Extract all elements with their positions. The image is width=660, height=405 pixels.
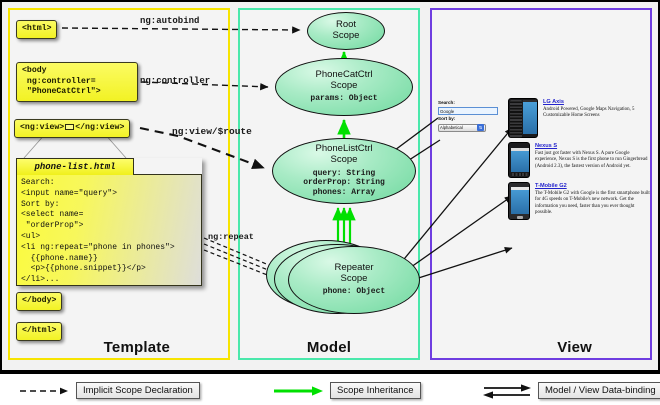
list-item[interactable]: LG Axis Android Powered, Google Maps Nav… xyxy=(508,98,650,138)
legend: Implicit Scope Declaration Scope Inherit… xyxy=(0,372,660,405)
panel-template-label: Template xyxy=(10,339,228,356)
legend-label: Implicit Scope Declaration xyxy=(76,382,200,399)
tag-html-close: </html> xyxy=(16,322,62,341)
double-arrow-icon xyxy=(482,383,532,399)
arrow-label-ng-view-route: ng:view/$route xyxy=(172,126,252,137)
screen-area xyxy=(523,102,537,134)
diagram-root: Template Model View xyxy=(0,0,660,405)
panel-model-label: Model xyxy=(240,339,418,356)
phone-thumbnail xyxy=(508,98,538,138)
search-input[interactable]: Google xyxy=(438,107,498,115)
scope-repeater-props: phone: Object xyxy=(323,287,385,297)
view-controls: Search: Google Sort by: Alphabetical ⇅ xyxy=(438,100,502,132)
dock-area xyxy=(512,173,528,176)
panel-view-label: View xyxy=(432,339,650,356)
phone-snippet: Fast just got faster with Nexus S. A pur… xyxy=(535,151,650,170)
sort-label: Sort by: xyxy=(438,116,502,122)
lg-axis-phone-image xyxy=(508,98,538,138)
search-label: Search: xyxy=(438,100,502,106)
placeholder-rect-icon xyxy=(65,124,74,130)
scope-phonelistctrl: PhoneListCtrl Scope query: String orderP… xyxy=(272,138,416,204)
arrow-label-ng-repeat: ng:repeat xyxy=(208,232,254,242)
green-arrow-icon xyxy=(272,385,324,397)
view-mockup: Search: Google Sort by: Alphabetical ⇅ L… xyxy=(434,98,650,303)
legend-label: Scope Inheritance xyxy=(330,382,421,399)
phone-snippet: Android Powered, Google Maps Navigation,… xyxy=(543,107,650,120)
scope-phonecatctrl: PhoneCatCtrl Scope params: Object xyxy=(275,58,413,116)
tag-html-open: <html> xyxy=(16,20,57,39)
tag-ng-view-close: </ng:view> xyxy=(75,123,124,132)
sort-select-value: Alphabetical xyxy=(440,124,463,132)
note-phone-list-html: phone-list.html Search: <input name="que… xyxy=(16,158,202,286)
legend-item-data-binding: Model / View Data-binding xyxy=(482,382,660,399)
note-code: Search: <input name="query"> Sort by: <s… xyxy=(16,174,202,286)
statusbar xyxy=(511,187,529,190)
tag-body-close: </body> xyxy=(16,292,62,311)
phone-name-link[interactable]: LG Axis xyxy=(543,99,650,106)
scope-repeater: Repeater Scope phone: Object xyxy=(288,246,420,314)
phone-name-link[interactable]: T-Mobile G2 xyxy=(535,183,650,190)
tag-body-open: <body ng:controller= "PhoneCatCtrl"> xyxy=(16,62,138,102)
phone-list: LG Axis Android Powered, Google Maps Nav… xyxy=(508,98,650,224)
phone-thumbnail xyxy=(508,142,530,178)
arrow-label-ng-autobind: ng:autobind xyxy=(140,16,199,26)
screen-area xyxy=(511,148,529,172)
note-title: phone-list.html xyxy=(16,158,134,175)
keyboard-area xyxy=(510,100,522,138)
scope-repeater-title: Repeater Scope xyxy=(334,263,373,284)
scope-phonelistctrl-props: query: String orderProp: String phones: … xyxy=(303,169,385,198)
scope-root-title: Root Scope xyxy=(333,20,360,41)
arrow-label-ng-controller: ng:controller xyxy=(140,76,210,86)
statusbar xyxy=(511,148,529,151)
legend-item-scope-inheritance: Scope Inheritance xyxy=(272,382,421,399)
phone-snippet: The T-Mobile G2 with Google is the first… xyxy=(535,191,650,216)
phone-info: LG Axis Android Powered, Google Maps Nav… xyxy=(543,98,650,138)
phone-info: Nexus S Fast just got faster with Nexus … xyxy=(535,142,650,178)
phone-name-link[interactable]: Nexus S xyxy=(535,143,650,150)
dashed-arrow-icon xyxy=(18,385,70,397)
chevron-updown-icon: ⇅ xyxy=(477,124,484,131)
list-item[interactable]: Nexus S Fast just got faster with Nexus … xyxy=(508,142,650,178)
home-button-icon xyxy=(517,216,523,219)
screen-area xyxy=(511,187,529,214)
sort-select[interactable]: Alphabetical ⇅ xyxy=(438,124,486,132)
scope-phonelistctrl-title: PhoneListCtrl Scope xyxy=(315,144,372,165)
tag-ng-view-open: <ng:view> xyxy=(20,123,64,132)
phone-info: T-Mobile G2 The T-Mobile G2 with Google … xyxy=(535,182,650,220)
scope-phonecatctrl-props: params: Object xyxy=(310,94,377,104)
legend-item-implicit-scope-declaration: Implicit Scope Declaration xyxy=(18,382,200,399)
tag-ng-view: <ng:view></ng:view> xyxy=(14,119,130,138)
scope-phonecatctrl-title: PhoneCatCtrl Scope xyxy=(315,70,372,91)
t-mobile-g2-phone-image xyxy=(508,182,530,220)
nexus-s-phone-image xyxy=(508,142,530,178)
scope-root: Root Scope xyxy=(307,12,385,50)
legend-label: Model / View Data-binding xyxy=(538,382,660,399)
list-item[interactable]: T-Mobile G2 The T-Mobile G2 with Google … xyxy=(508,182,650,220)
scope-repeater-stack: Repeater Scope phone: Object xyxy=(266,232,426,316)
phone-thumbnail xyxy=(508,182,530,220)
